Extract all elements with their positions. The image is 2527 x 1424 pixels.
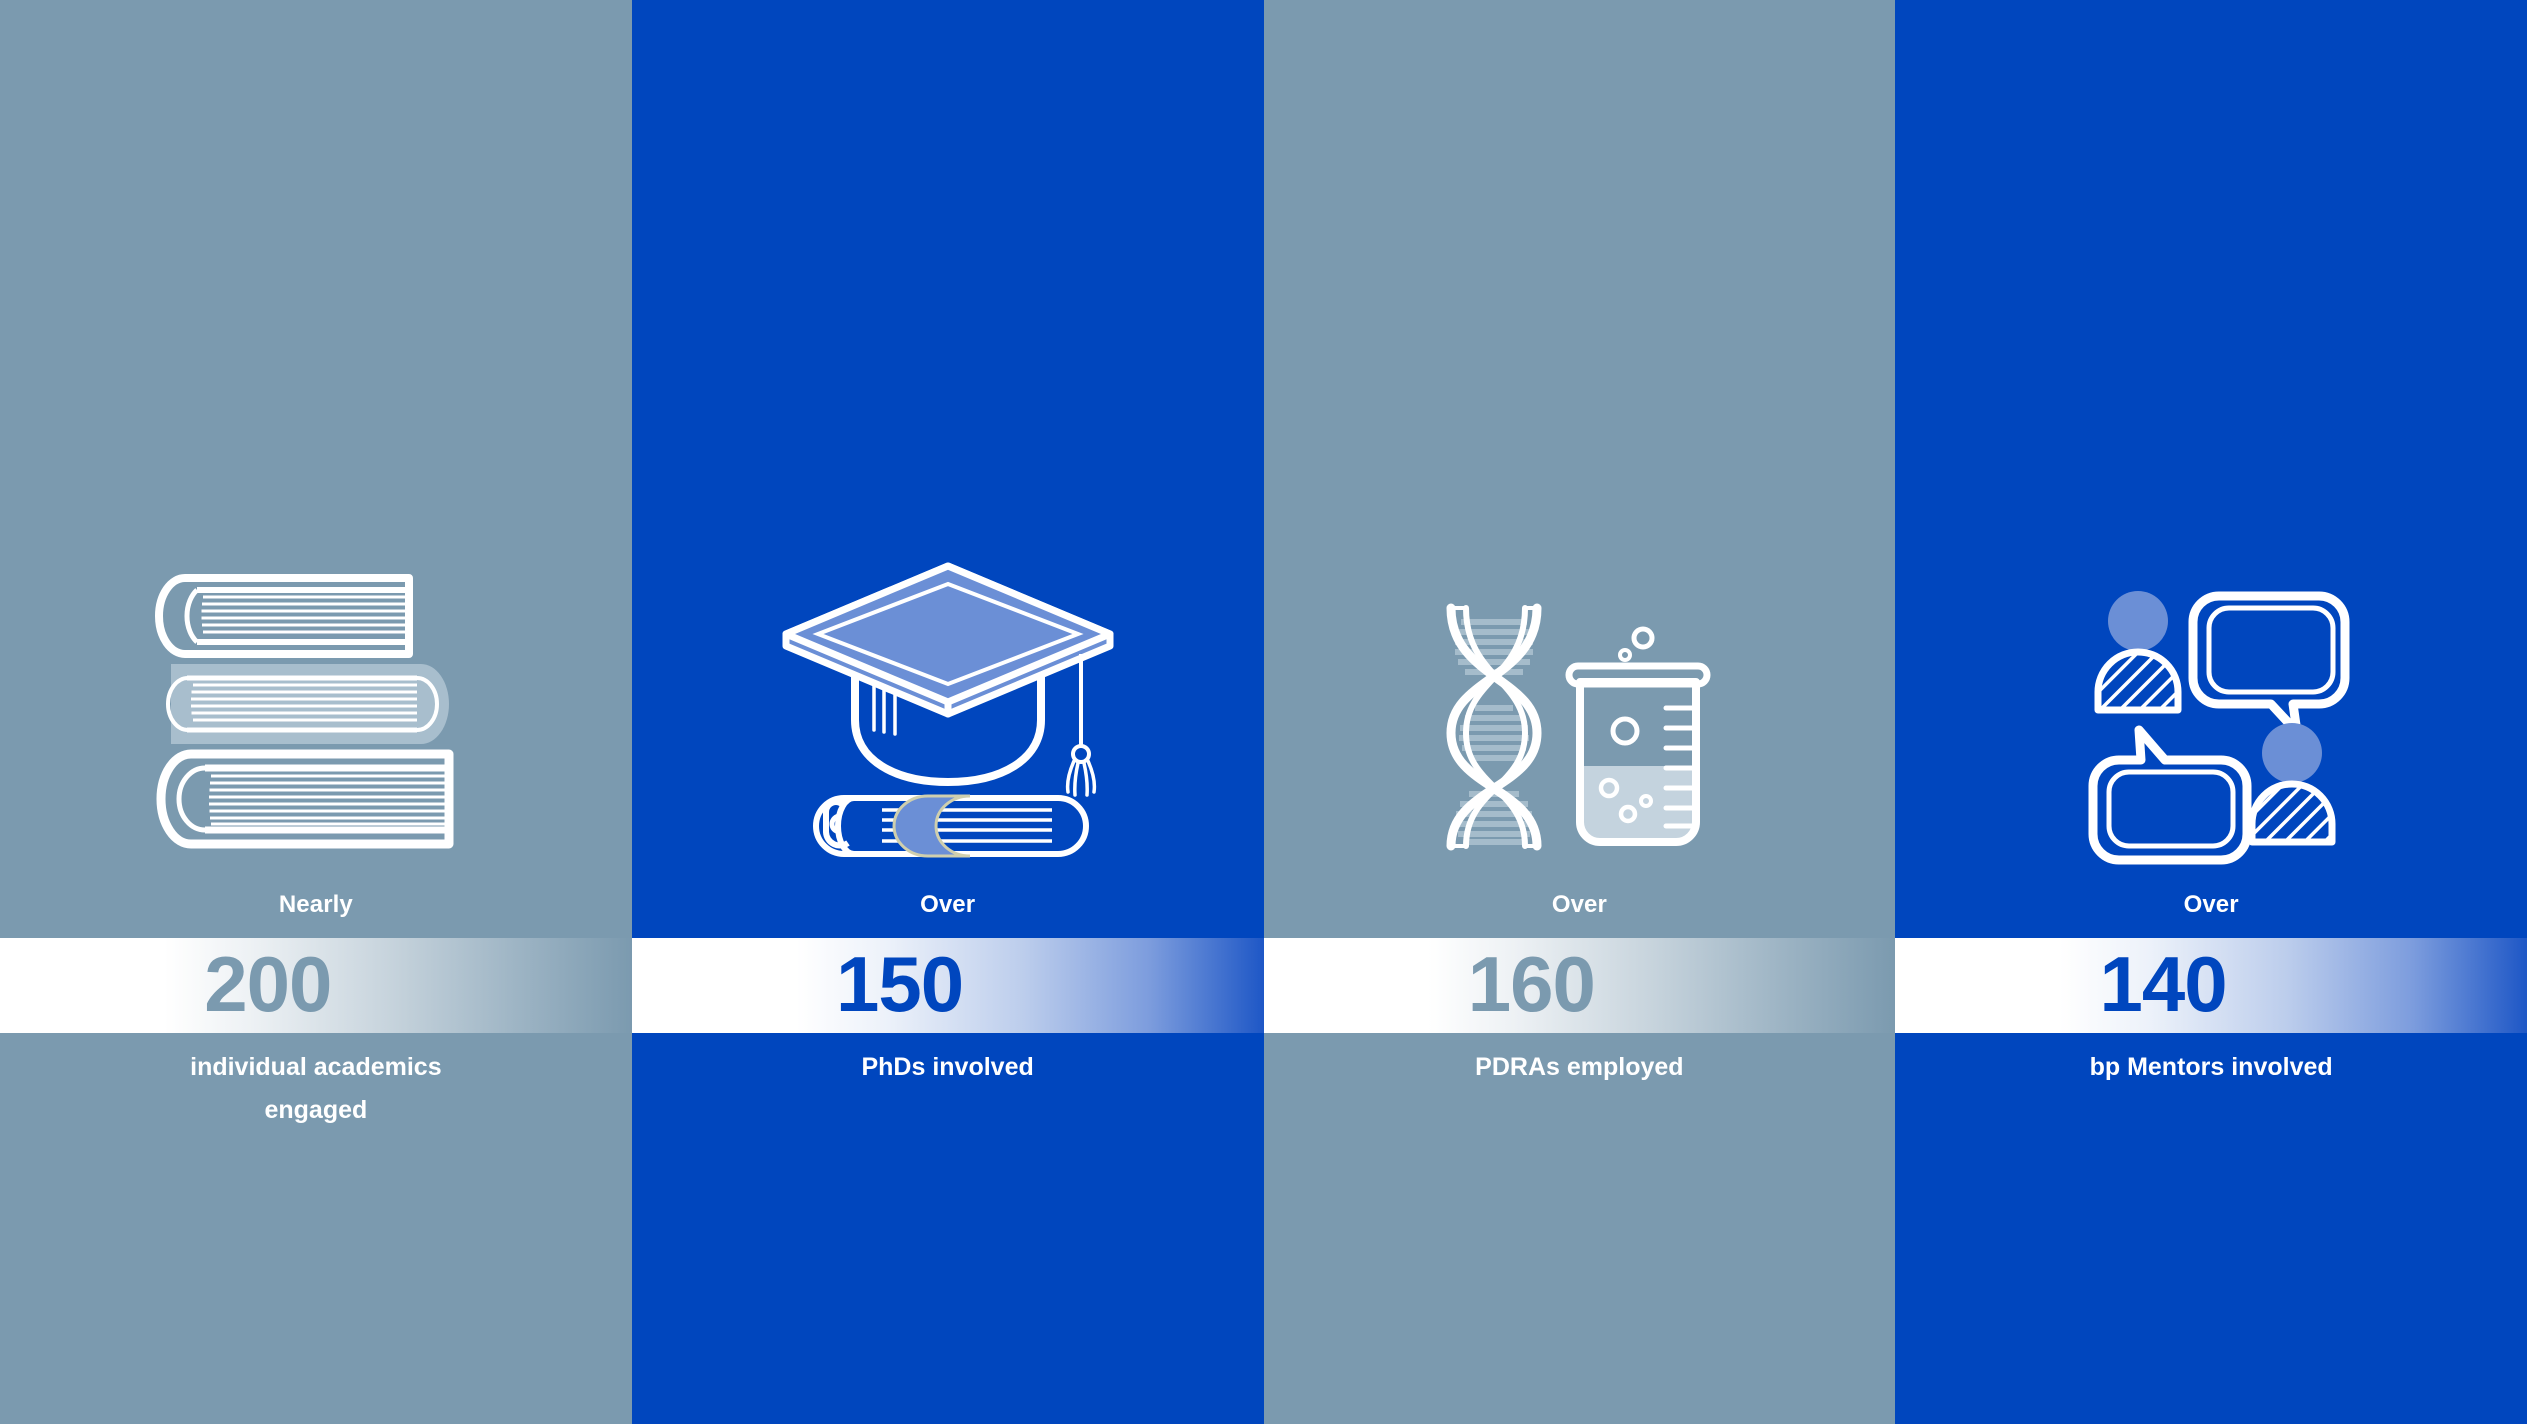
book-middle	[168, 664, 449, 744]
avatar-head	[2108, 591, 2168, 651]
beaker-icon	[1569, 629, 1707, 842]
stat-band-phds: 150	[632, 938, 1264, 1033]
book-bottom	[161, 754, 449, 844]
dna-beaker-icon	[1429, 588, 1729, 858]
stat-number-academics: 200	[204, 945, 331, 1023]
stat-number-phds: 150	[836, 945, 963, 1023]
avatar-top-left	[2098, 591, 2178, 710]
pre-label-academics: Nearly	[0, 890, 632, 920]
stat-band-academics: 200	[0, 938, 632, 1033]
pre-label-mentors: Over	[1895, 890, 2527, 920]
avatar-body	[2252, 784, 2332, 842]
stat-panel-pdras: Over 160 PDRAs employed	[1264, 0, 1896, 1424]
speech-bubble-bottom-left	[2093, 730, 2247, 860]
icon-area-pdras	[1264, 0, 1896, 880]
graduation-cap-diploma-icon	[778, 558, 1118, 858]
dna-helix-icon	[1451, 608, 1537, 846]
pre-label-phds: Over	[632, 890, 1264, 920]
speech-bubble-top-right	[2193, 596, 2345, 732]
avatar-head	[2262, 723, 2322, 783]
avatar-bottom-right	[2252, 723, 2332, 842]
icon-area-academics	[0, 0, 632, 880]
stat-panel-academics: Nearly 200 individual academics engaged	[0, 0, 632, 1424]
book-top	[159, 578, 409, 654]
stat-panel-mentors: Over 140 bp Mentors involved	[1895, 0, 2527, 1424]
infographic-root: Nearly 200 individual academics engaged	[0, 0, 2527, 1424]
tassel-icon	[1067, 654, 1094, 795]
caption-pdras: PDRAs employed	[1264, 1046, 1896, 1089]
pre-label-pdras: Over	[1264, 890, 1896, 920]
stat-band-pdras: 160	[1264, 938, 1896, 1033]
stat-band-mentors: 140	[1895, 938, 2527, 1033]
stat-number-pdras: 160	[1468, 945, 1595, 1023]
caption-phds: PhDs involved	[632, 1046, 1264, 1089]
stat-panel-phds: Over 150 PhDs involved	[632, 0, 1264, 1424]
avatar-body	[2098, 652, 2178, 710]
icon-area-phds	[632, 0, 1264, 880]
icon-area-mentors	[1895, 0, 2527, 880]
caption-mentors: bp Mentors involved	[1895, 1046, 2527, 1089]
caption-academics: individual academics engaged	[0, 1046, 632, 1132]
stat-number-mentors: 140	[2100, 945, 2227, 1023]
diploma-scroll-icon	[816, 796, 1086, 856]
mortarboard-top	[786, 566, 1110, 714]
stacked-books-icon	[161, 568, 471, 858]
people-speech-bubbles-icon	[2081, 588, 2341, 858]
